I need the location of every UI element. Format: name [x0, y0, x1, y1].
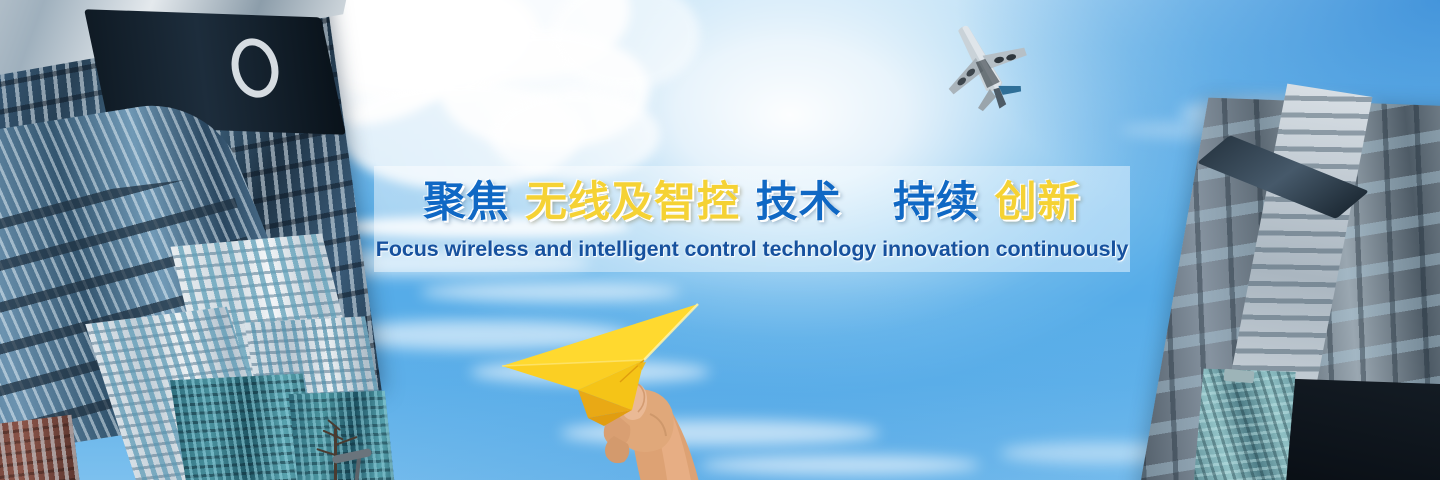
- headline-banner: 聚焦 无线及智控 技术 持续 创新 Focus wireless and int…: [374, 166, 1130, 272]
- headline-segment-gold-1: 无线及智控: [525, 177, 740, 227]
- street-lamp: [330, 452, 390, 480]
- banner-hero: 聚焦 无线及智控 技术 持续 创新 Focus wireless and int…: [0, 0, 1440, 480]
- headline-subtitle: Focus wireless and intelligent control t…: [374, 236, 1130, 262]
- airliner: [924, 16, 1040, 116]
- headline-segment-gold-2: 创新: [995, 177, 1081, 227]
- hand-with-paper-airplane: [492, 286, 722, 480]
- headline-segment-blue-1: 聚焦: [423, 177, 509, 227]
- cloud-streak: [700, 455, 980, 475]
- headline-segment-blue-2: 技术: [756, 177, 842, 227]
- headline-segment-blue-3: 持续: [893, 177, 979, 227]
- headline-chinese: 聚焦 无线及智控 技术 持续 创新: [374, 177, 1130, 227]
- right-skyscraper: [1130, 80, 1440, 480]
